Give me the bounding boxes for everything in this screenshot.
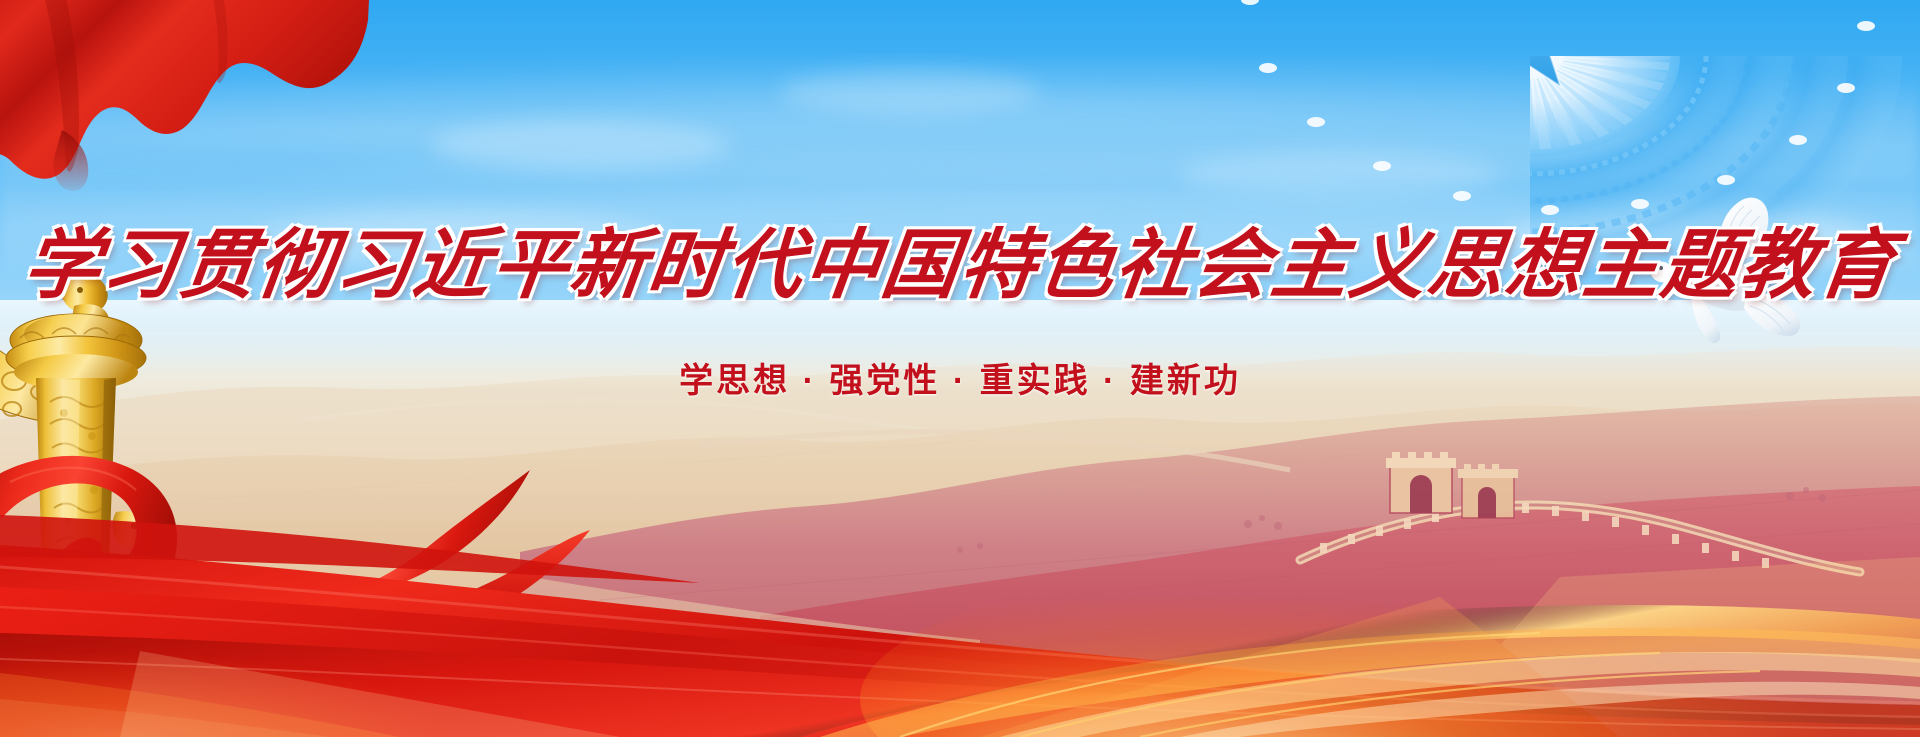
page-subtitle: 学思想 · 强党性 · 重实践 · 建新功 <box>0 353 1920 402</box>
bottom-decoration <box>0 437 1920 737</box>
waving-red-flag <box>0 0 430 220</box>
page-title: 学习贯彻习近平新时代中国特色社会主义思想主题教育 <box>0 228 1920 304</box>
poster-banner: 学习贯彻习近平新时代中国特色社会主义思想主题教育 学思想 · 强党性 · 重实践… <box>0 0 1920 737</box>
